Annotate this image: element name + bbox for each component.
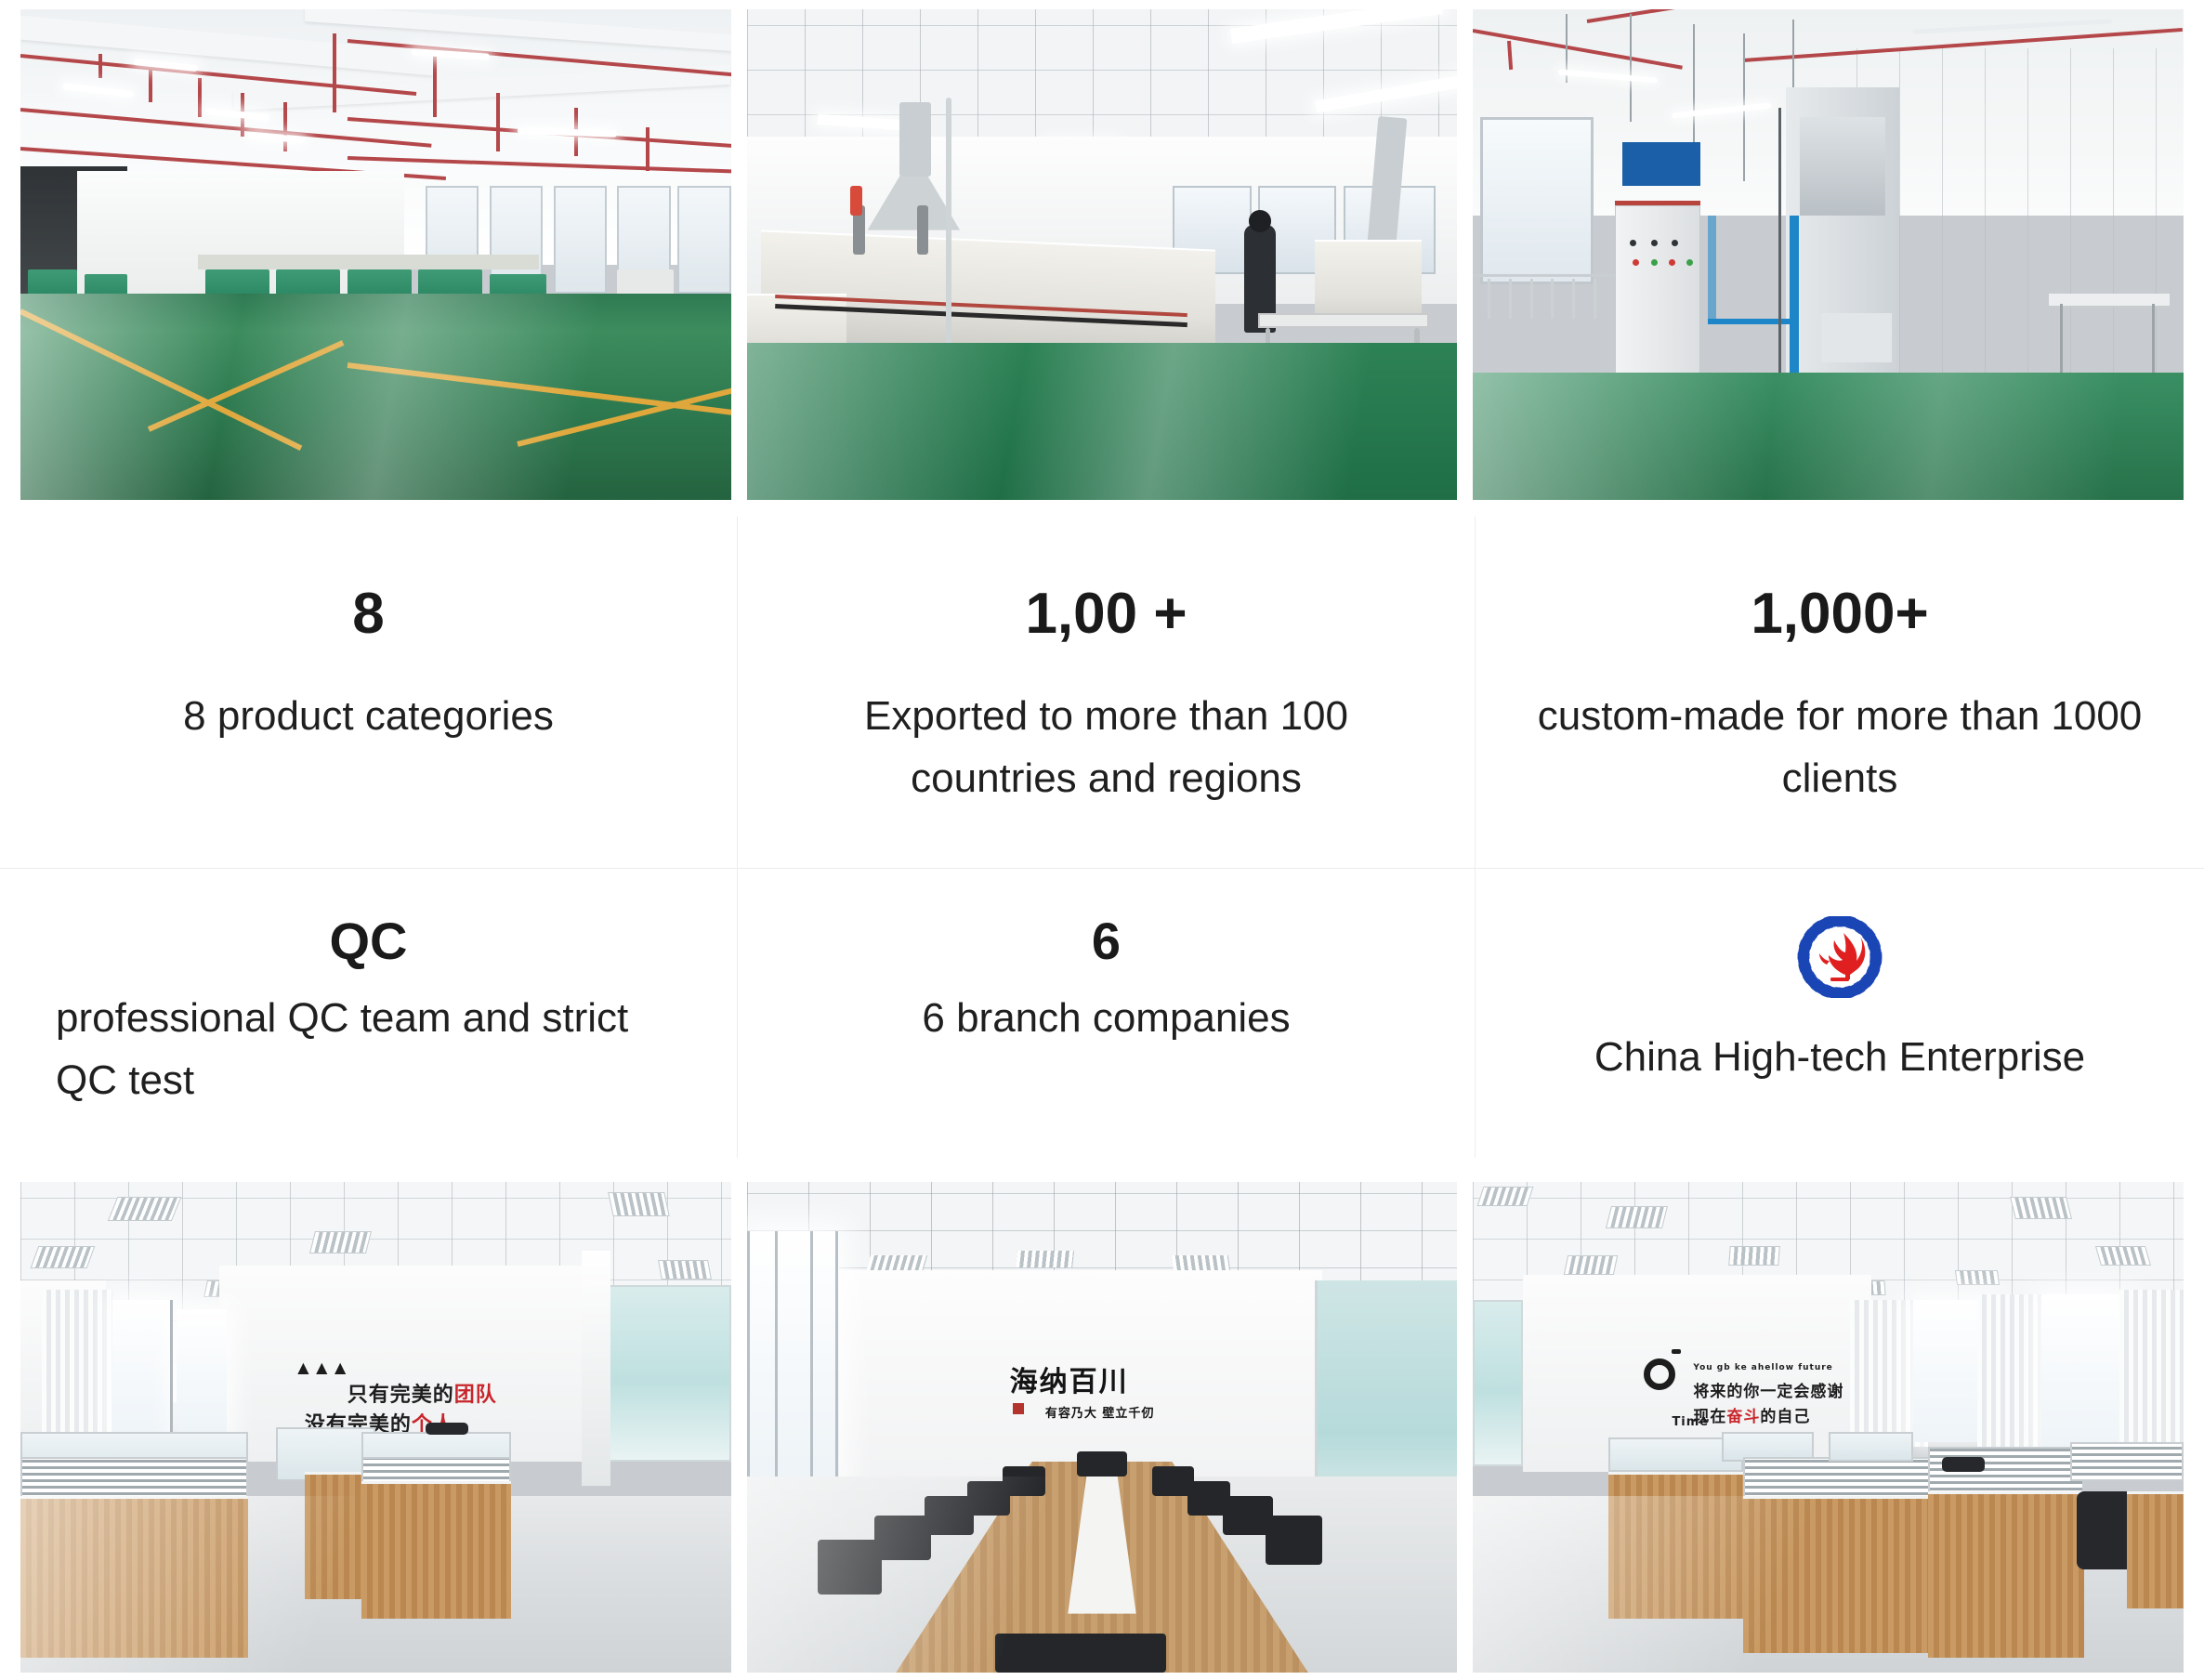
stats-grid: 8 8 product categories 1,00 + Exported t… [0, 517, 2204, 1158]
photo-reflow-oven-production-line [747, 9, 1458, 500]
stat-cell-exported-countries: 1,00 + Exported to more than 100 countri… [738, 517, 1475, 868]
stat-label: professional QC team and strict QC test [52, 988, 685, 1112]
stat-label: 6 branch companies [922, 988, 1290, 1050]
top-photo-row [0, 9, 2204, 500]
stat-cell-qc-team: QC professional QC team and strict QC te… [0, 869, 737, 1158]
stat-label: Exported to more than 100 countries and … [790, 686, 1423, 810]
bottom-photo-row: 只有完美的团队 没有完美的个人 ▲ ▲ ▲ [0, 1182, 2204, 1673]
stat-cell-product-categories: 8 8 product categories [0, 517, 737, 868]
stat-number: 8 [352, 585, 384, 643]
photo-open-plan-office-reception: 只有完美的团队 没有完美的个人 ▲ ▲ ▲ [20, 1182, 731, 1673]
stat-label: China High-tech Enterprise [1594, 1027, 2085, 1089]
photo-conference-room: 海纳百川 有容乃大 壁立千仞 [747, 1182, 1458, 1673]
photo-workshop-assembly-line [20, 9, 731, 500]
stat-cell-branch-companies: 6 6 branch companies [738, 869, 1475, 1158]
stat-label: custom-made for more than 1000 clients [1528, 686, 2152, 810]
photo-press-machine-control-cabinet [1473, 9, 2184, 500]
photo-office-workstations: You gb ke ahellow future 将来的你一定会感谢 现在奋斗的… [1473, 1182, 2184, 1673]
stat-number: 1,000+ [1751, 585, 1928, 643]
stat-label: 8 product categories [183, 686, 554, 748]
stat-number: 6 [1092, 915, 1121, 967]
stat-cell-high-tech-enterprise: China High-tech Enterprise [1476, 869, 2204, 1158]
stat-number: 1,00 + [1025, 585, 1187, 643]
china-high-tech-enterprise-logo-icon [1777, 915, 1903, 999]
stat-cell-custom-made-clients: 1,000+ custom-made for more than 1000 cl… [1476, 517, 2204, 868]
capability-grid-page: 8 8 product categories 1,00 + Exported t… [0, 0, 2204, 1680]
stat-number: QC [330, 915, 408, 967]
